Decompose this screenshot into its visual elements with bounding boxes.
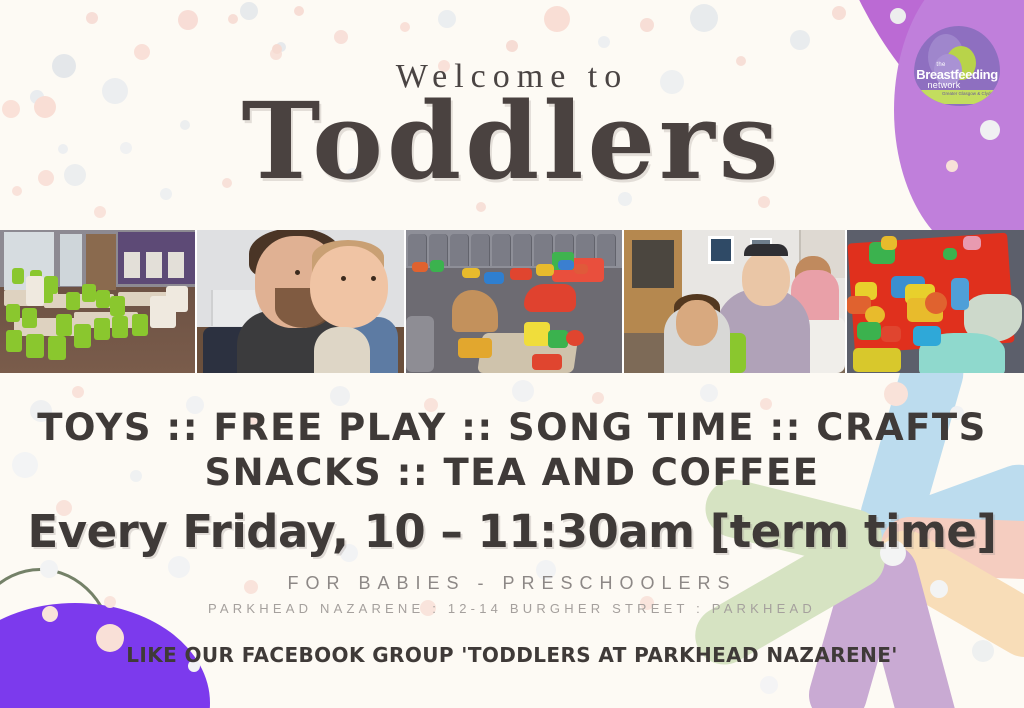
photo1-chair: [132, 314, 148, 336]
photo1-chair: [48, 336, 66, 360]
photo1-chair: [12, 268, 24, 284]
photo-father-with-baby: [197, 230, 404, 373]
pinwheel-bar-purple-2: [802, 537, 909, 708]
photo1-stool: [124, 252, 140, 278]
photo1-window-2: [60, 234, 82, 286]
photo5-toy: [925, 292, 947, 314]
photo1-chair: [56, 314, 72, 336]
photo1-stool: [146, 252, 162, 278]
photo5-toy: [881, 326, 901, 342]
confetti-dot: [592, 392, 604, 404]
photo1-highchair: [26, 276, 44, 306]
poster-header: Welcome to Toddlers: [0, 0, 1024, 230]
confetti-dot: [72, 386, 84, 398]
confetti-dot: [330, 386, 350, 406]
photo4-toddler-head: [676, 300, 718, 346]
photo3-toy: [548, 330, 568, 348]
photo1-chair: [66, 292, 80, 310]
photo-church-hall-green-chairs: [0, 230, 195, 373]
photo1-chair: [96, 290, 110, 308]
photo1-chair: [26, 334, 44, 358]
photo-red-mat-with-baby-toys: [847, 230, 1024, 373]
photo5-toy: [853, 348, 901, 372]
confetti-dot: [512, 380, 534, 402]
photo1-chair: [110, 296, 125, 316]
photo3-toy: [532, 354, 562, 370]
logo-egg-shape: the Breastfeeding network Greater Glasgo…: [914, 26, 1000, 106]
photo4-wall-picture: [708, 236, 734, 264]
photo3-toy: [524, 322, 550, 346]
photo3-toy: [462, 268, 480, 278]
breastfeeding-network-logo: the Breastfeeding network Greater Glasgo…: [914, 26, 1000, 106]
photo3-toy: [458, 338, 492, 358]
photo3-toy: [510, 268, 532, 280]
venue-address-text: PARKHEAD NAZARENE : 12-14 BURGHER STREET…: [0, 601, 1024, 616]
photo-woman-with-toddler-and-baby: [624, 230, 845, 373]
logo-network-text: network: [914, 81, 1000, 90]
photo3-chair: [513, 234, 532, 266]
photo1-chair: [94, 318, 110, 340]
photo3-toy: [574, 264, 588, 274]
photo3-chair: [534, 234, 553, 266]
pinwheel-bar-purple: [853, 537, 962, 708]
photo1-chair: [22, 308, 37, 328]
photo1-chair: [6, 304, 20, 322]
photo1-chair: [6, 330, 22, 352]
schedule-text: Every Friday, 10 – 11:30am [term time]: [0, 505, 1024, 558]
page-title: Toddlers: [0, 88, 1024, 194]
photo3-toy: [406, 316, 434, 372]
photo5-toy: [943, 248, 957, 260]
photo3-toy: [412, 262, 428, 272]
photo1-stool: [168, 252, 184, 278]
photo3-toy: [558, 260, 574, 270]
photo1-chair: [112, 316, 128, 338]
confetti-dot: [760, 676, 778, 694]
poster-canvas: Welcome to Toddlers the Breastfeeding ne…: [0, 0, 1024, 708]
activities-list: TOYS :: FREE PLAY :: SONG TIME :: CRAFTS…: [0, 405, 1024, 495]
photo3-toy: [430, 260, 444, 272]
photo2-baby-bib: [314, 327, 370, 373]
photo-hall-with-ride-on-toys: [406, 230, 621, 373]
photo1-chair: [74, 324, 91, 348]
photo2-baby-head: [310, 246, 388, 328]
photo5-toy: [963, 236, 981, 250]
photo3-chair: [450, 234, 469, 266]
photo1-highchair: [166, 286, 188, 312]
photo3-chair: [471, 234, 490, 266]
confetti-dot: [700, 384, 718, 402]
activities-line-2: SNACKS :: TEA AND COFFEE: [0, 450, 1024, 495]
age-range-text: FOR BABIES - PRESCHOOLERS: [0, 573, 1024, 594]
photo5-toy: [913, 326, 941, 346]
photo4-door-glass: [632, 240, 674, 288]
photo3-toy: [536, 264, 554, 276]
logo-wordmark: the Breastfeeding network: [914, 62, 1000, 90]
activities-line-1: TOYS :: FREE PLAY :: SONG TIME :: CRAFTS: [0, 405, 1024, 450]
photo4-woman-head: [742, 252, 790, 306]
photo4-woman-headband: [744, 244, 788, 256]
photo-strip: [0, 230, 1024, 373]
photo1-door: [86, 234, 116, 290]
confetti-dot: [884, 382, 908, 406]
photo3-ride-on-car: [524, 284, 576, 312]
photo3-chair: [492, 234, 511, 266]
photo5-toy: [951, 278, 969, 310]
facebook-group-text: LIKE OUR FACEBOOK GROUP 'TODDLERS AT PAR…: [0, 643, 1024, 667]
photo1-chair: [82, 284, 96, 302]
logo-region-band: Greater Glasgow & Clyde: [920, 90, 994, 104]
photo5-toy: [881, 236, 897, 250]
photo3-toy: [484, 272, 504, 284]
photo5-toy: [857, 322, 881, 340]
